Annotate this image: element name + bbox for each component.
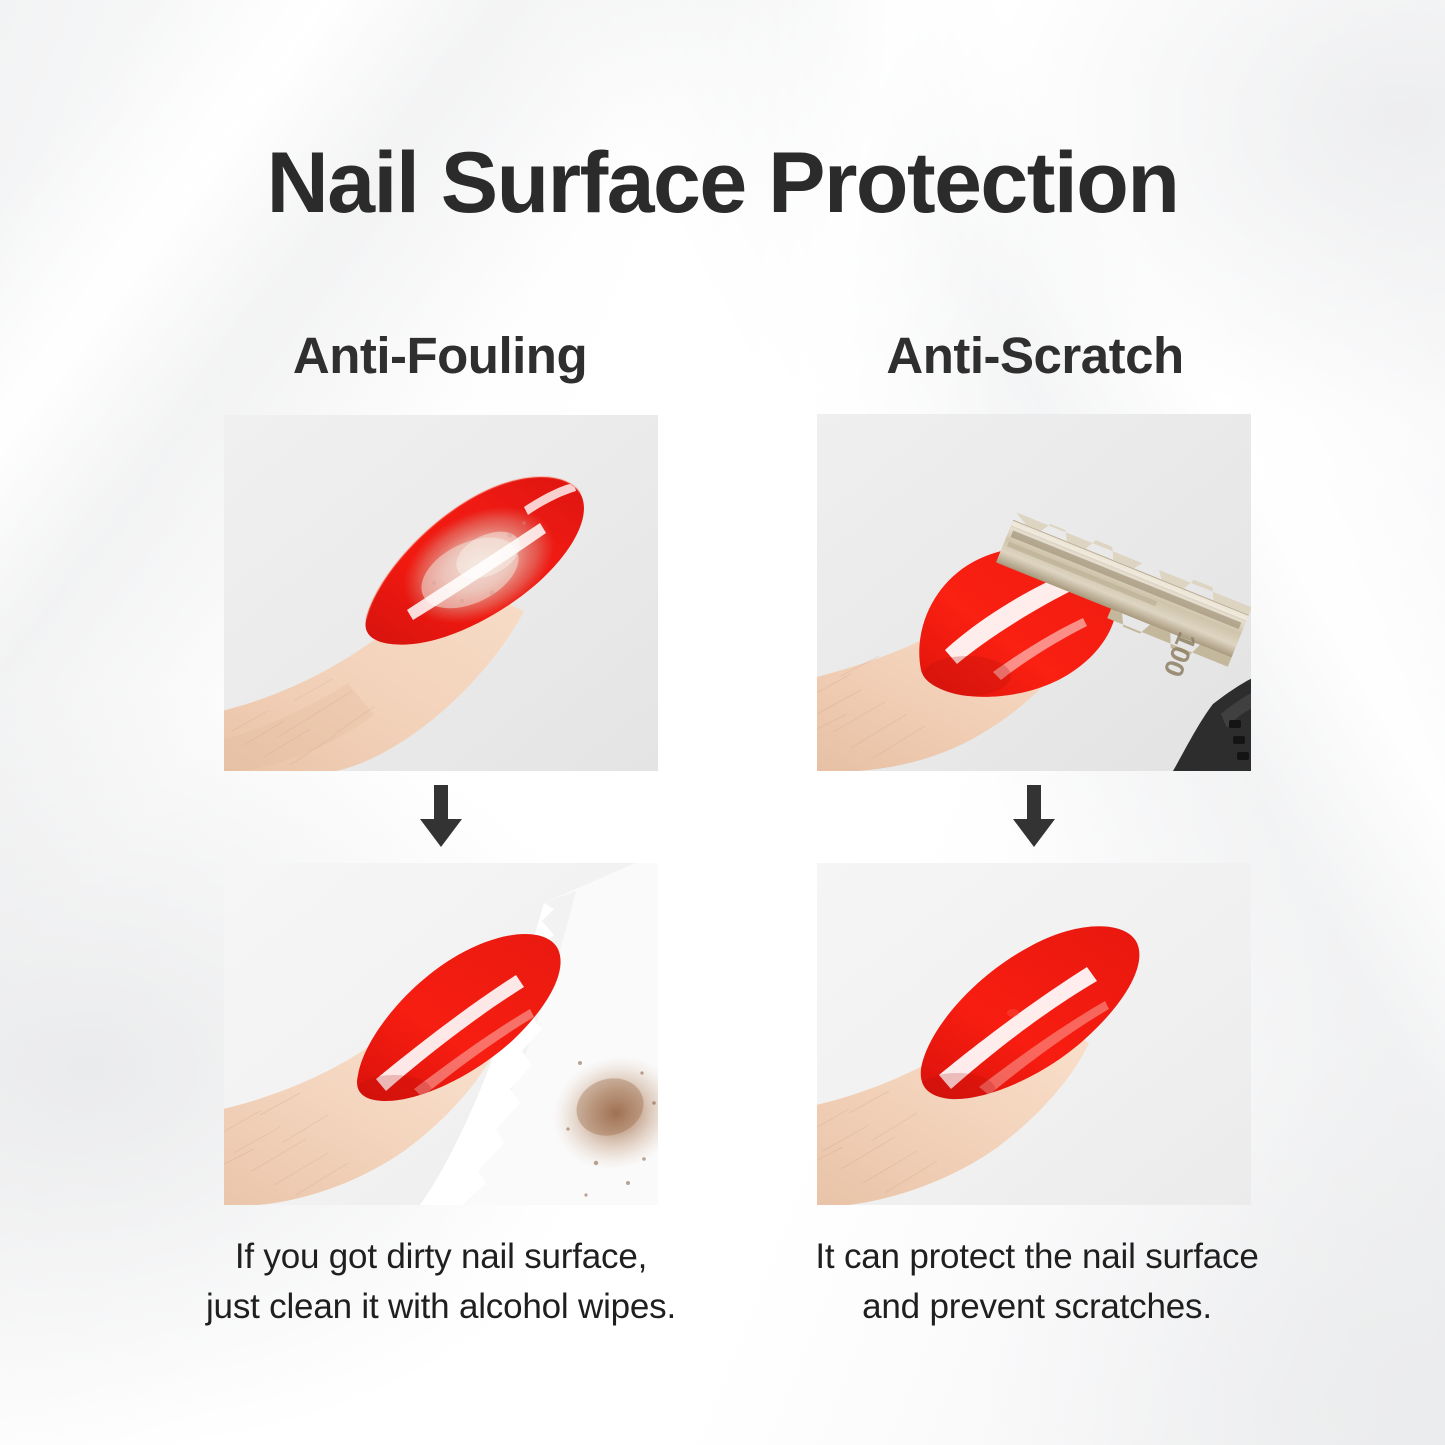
caption-line: If you got dirty nail surface, (181, 1232, 701, 1282)
caption-line: It can protect the nail surface (777, 1232, 1297, 1282)
section-heading-anti-scratch: Anti-Scratch (815, 326, 1255, 385)
caption-anti-fouling: If you got dirty nail surface, just clea… (181, 1232, 701, 1331)
page-title: Nail Surface Protection (0, 134, 1445, 233)
photo-nail-with-dirty-smudge (224, 415, 658, 771)
photo-clean-nail-with-alcohol-wipe (224, 863, 658, 1205)
infographic-canvas: Nail Surface Protection Anti-Fouling Ant… (0, 0, 1445, 1445)
caption-line: just clean it with alcohol wipes. (181, 1282, 701, 1332)
caption-line: and prevent scratches. (777, 1282, 1297, 1332)
section-heading-anti-fouling: Anti-Fouling (220, 326, 660, 385)
photo-unscratched-nail (817, 863, 1251, 1205)
photo-key-scraping-nail: 100 (817, 414, 1251, 771)
down-arrow-icon-right (1011, 785, 1057, 847)
down-arrow-icon-left (418, 785, 464, 847)
caption-anti-scratch: It can protect the nail surface and prev… (777, 1232, 1297, 1331)
